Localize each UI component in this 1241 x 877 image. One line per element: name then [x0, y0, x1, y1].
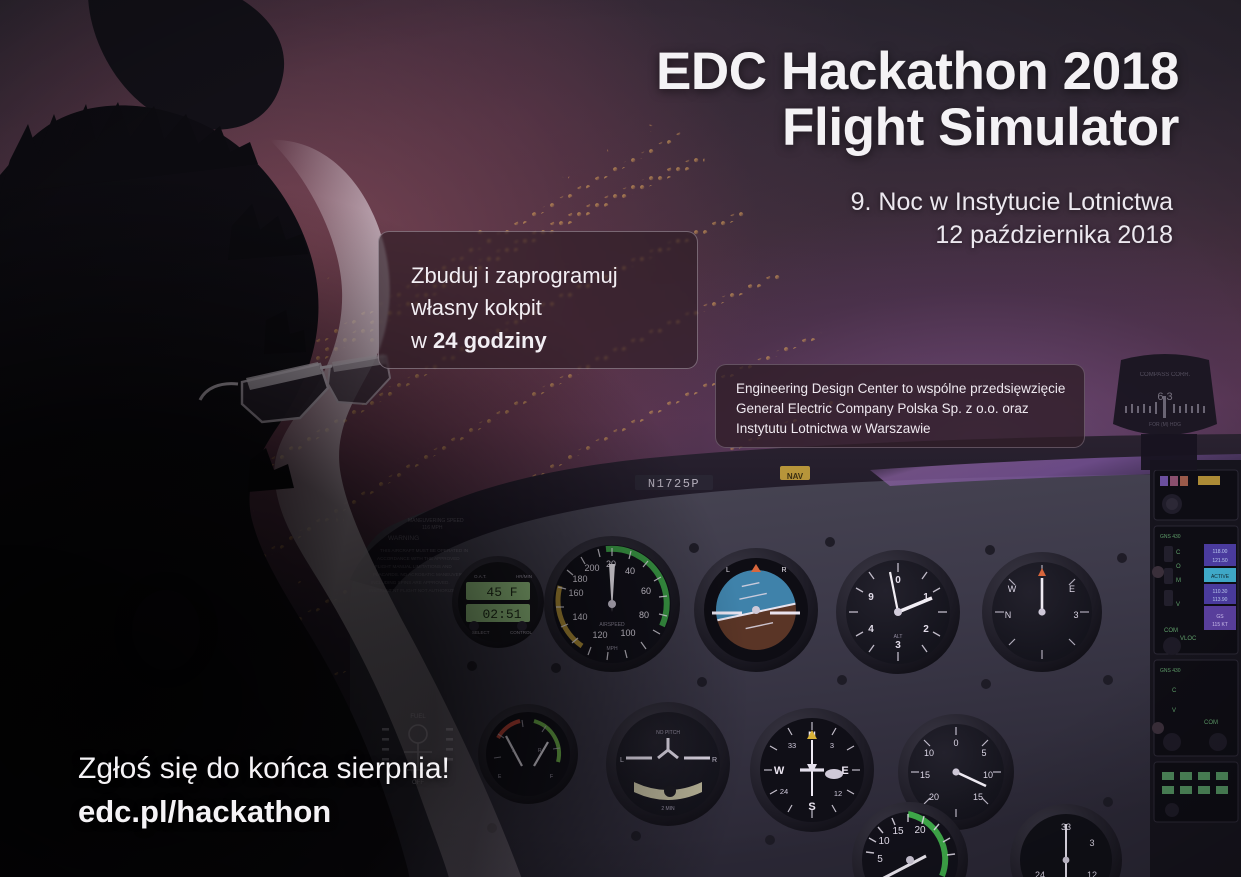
callout-line-3-emphasis: 24 godziny [433, 328, 547, 353]
callout-line-3: w 24 godziny [411, 325, 697, 357]
call-to-action: Zgłoś się do końca sierpnia! edc.pl/hack… [78, 750, 450, 832]
callout-line-1: Zbuduj i zaprogramuj [411, 260, 697, 292]
infobox-line-2: General Electric Company Polska Sp. z o.… [736, 399, 1084, 419]
challenge-callout-box: Zbuduj i zaprogramuj własny kokpit w 24 … [378, 231, 698, 369]
subhead-event-date: 12 października 2018 [851, 219, 1173, 252]
callout-line-2: własny kokpit [411, 292, 697, 324]
infobox-line-3: Instytutu Lotnictwa w Warszawie [736, 419, 1084, 439]
headline-line-1: EDC Hackathon 2018 [656, 42, 1179, 101]
callout-line-3-prefix: w [411, 328, 433, 353]
poster-root: N1725P WARNING THIS AIRCRAFT MUST BE OPE… [0, 0, 1241, 877]
cta-url[interactable]: edc.pl/hackathon [78, 792, 450, 832]
cta-deadline-text: Zgłoś się do końca sierpnia! [78, 750, 450, 788]
subhead-event-name: 9. Noc w Instytucie Lotnictwa [851, 186, 1173, 219]
infobox-line-1: Engineering Design Center to wspólne prz… [736, 379, 1084, 399]
poster-subheadline: 9. Noc w Instytucie Lotnictwa 12 paździe… [851, 186, 1173, 253]
poster-headline: EDC Hackathon 2018 Flight Simulator [656, 44, 1179, 156]
headline-line-2: Flight Simulator [656, 100, 1179, 156]
organizer-info-box: Engineering Design Center to wspólne prz… [715, 364, 1085, 448]
